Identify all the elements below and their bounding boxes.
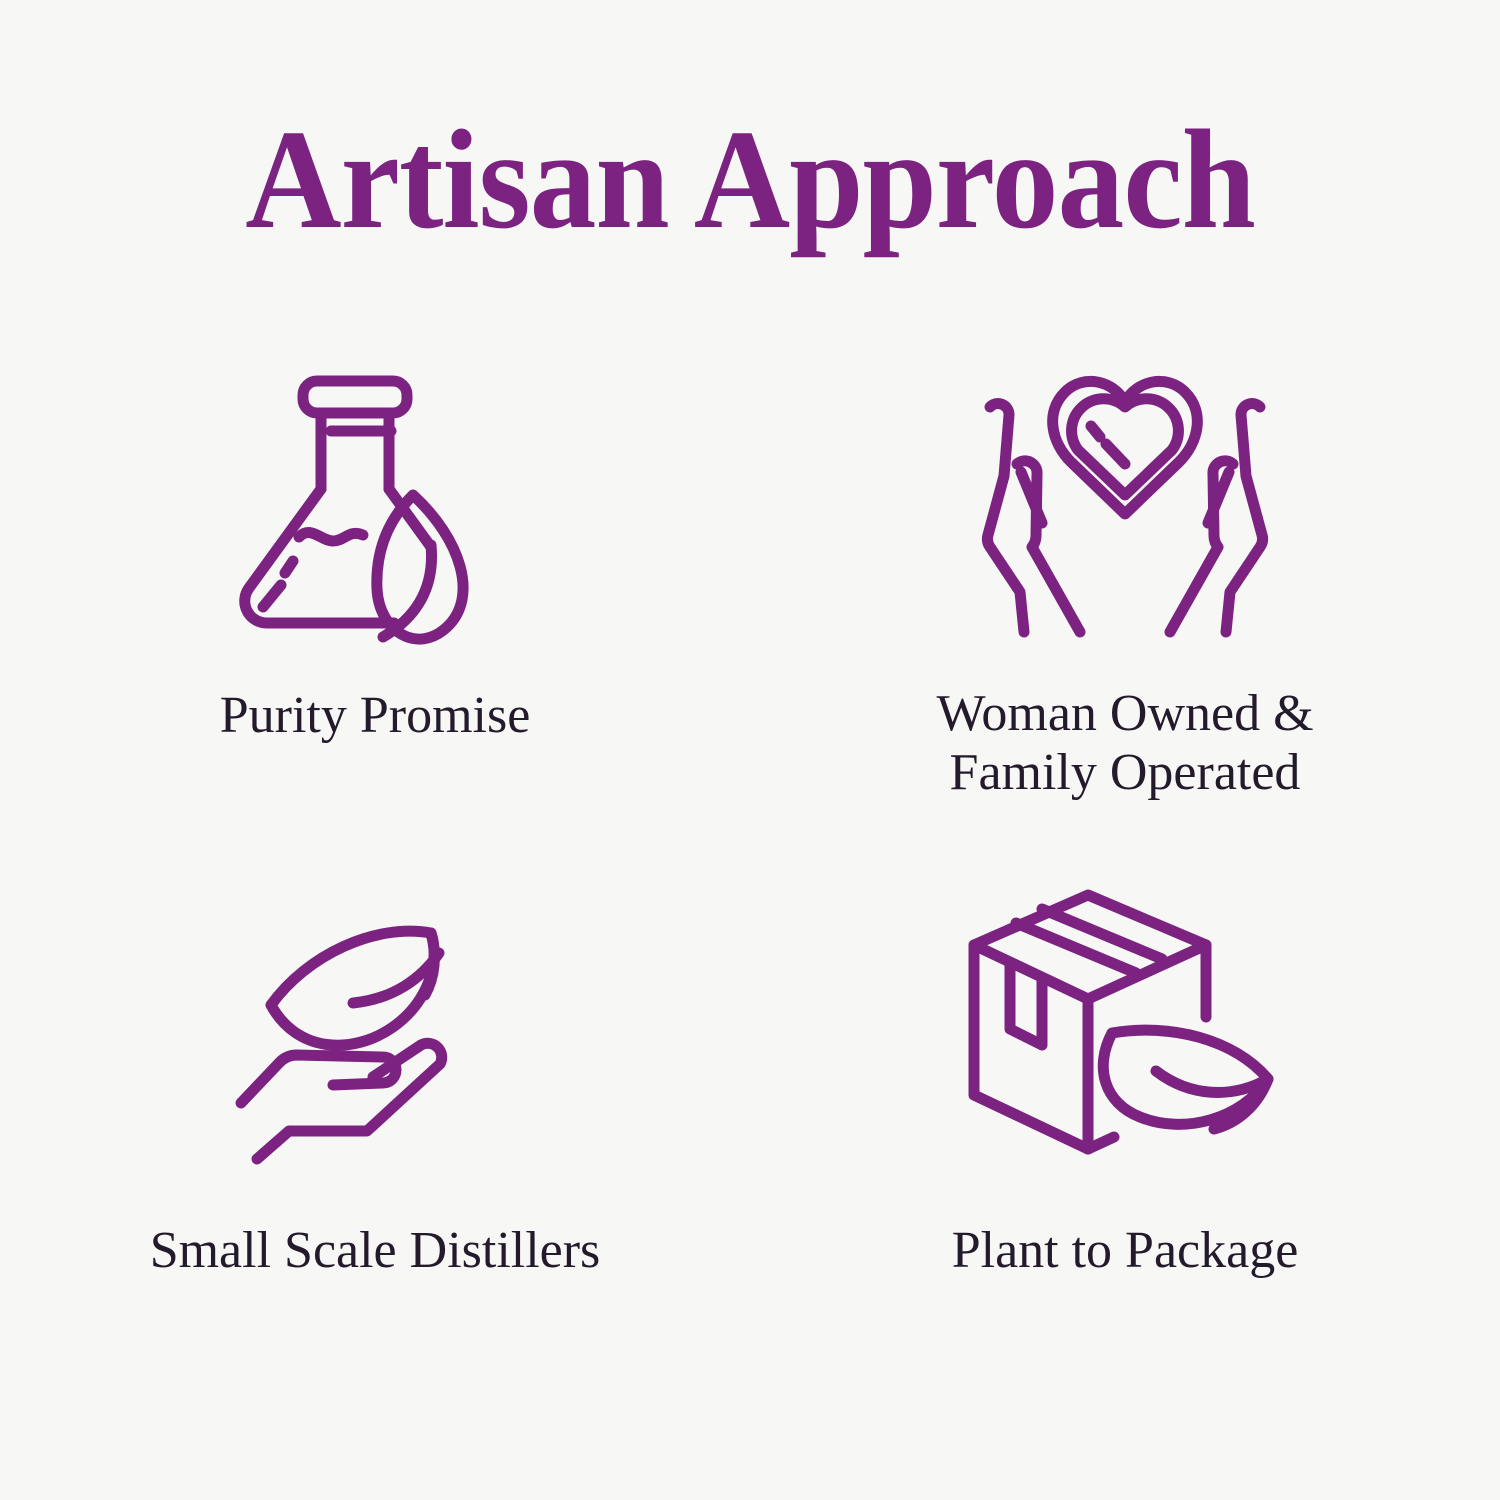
leaf-in-open-hand-icon (0, 882, 750, 1172)
feature-label-purity-promise: Purity Promise (200, 687, 551, 746)
page-title-container: Artisan Approach (0, 108, 1500, 250)
feature-item-purity-promise: Purity Promise (0, 355, 750, 860)
feature-label-small-scale-distillers: Small Scale Distillers (130, 1222, 621, 1281)
artisan-approach-poster: Artisan Approach (0, 0, 1500, 1500)
flask-with-leaf-icon (0, 355, 750, 655)
page-title: Artisan Approach (245, 108, 1255, 250)
feature-item-plant-to-package: Plant to Package (750, 860, 1500, 1365)
feature-label-plant-to-package: Plant to Package (932, 1222, 1319, 1281)
feature-item-small-scale-distillers: Small Scale Distillers (0, 860, 750, 1365)
feature-grid: Purity Promise (0, 355, 1500, 1365)
feature-item-woman-owned: Woman Owned & Family Operated (750, 355, 1500, 860)
package-box-with-leaf-icon (750, 882, 1500, 1172)
feature-label-woman-owned: Woman Owned & Family Operated (916, 685, 1333, 803)
hands-holding-heart-icon (750, 355, 1500, 655)
